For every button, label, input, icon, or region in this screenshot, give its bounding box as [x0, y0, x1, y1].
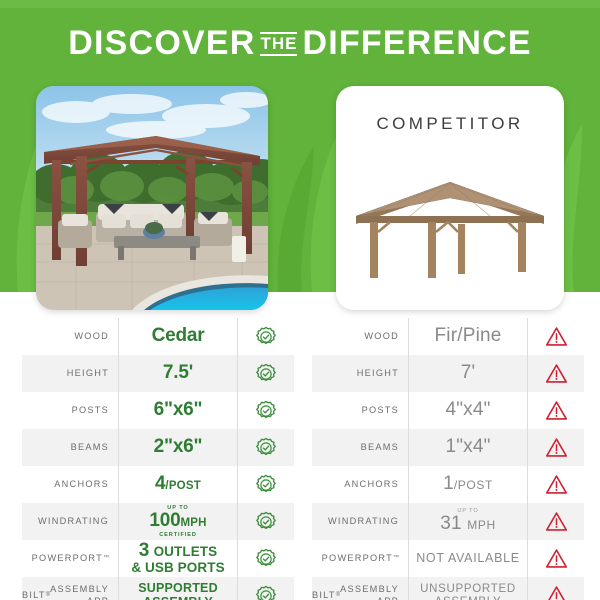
check-seal-icon — [255, 548, 277, 570]
warning-triangle-icon — [545, 437, 568, 458]
row-label: HEIGHT — [22, 355, 118, 392]
row-label: POSTS — [312, 392, 408, 429]
row-label: BEAMS — [22, 429, 118, 466]
row-value: NOT AVAILABLE — [408, 540, 528, 577]
status-icon-cell — [238, 540, 294, 577]
table-row: POWERPORT™ NOT AVAILABLE — [312, 540, 584, 577]
value-line2: & USB PORTS — [131, 561, 224, 576]
value-text: 1"x4" — [445, 437, 490, 458]
row-label-line1: BILT — [22, 590, 46, 600]
table-row: BILT®ASSEMBLY APP SUPPORTED ASSEMBLY — [22, 577, 294, 600]
value-unit: /POST — [454, 478, 493, 492]
hero-top-band — [0, 0, 600, 8]
check-seal-icon — [255, 437, 277, 459]
comparison-table-competitor: WOOD Fir/Pine HEIGHT 7' — [312, 318, 584, 600]
row-label: WINDRATING — [22, 503, 118, 540]
row-label: BILT®ASSEMBLY APP — [312, 577, 408, 600]
value-main: 31 MPH — [440, 514, 496, 535]
trademark-mark: ™ — [103, 555, 109, 563]
row-value: 4"x4" — [408, 392, 528, 429]
warning-triangle-icon — [545, 474, 568, 495]
table-row: HEIGHT 7.5' — [22, 355, 294, 392]
row-value: Cedar — [118, 318, 238, 355]
row-label: POWERPORT™ — [312, 540, 408, 577]
row-label-line2: RATING — [67, 516, 109, 528]
row-label: HEIGHT — [312, 355, 408, 392]
value-text: 7.5' — [163, 363, 193, 384]
status-icon-cell — [238, 577, 294, 600]
row-value: UP TO 100MPH CERTIFIED — [118, 503, 238, 540]
row-value: 6"x6" — [118, 392, 238, 429]
check-seal-icon — [255, 363, 277, 385]
value-text: Cedar — [152, 326, 205, 347]
row-label-line2: ASSEMBLY APP — [340, 584, 399, 600]
value-number: 100 — [149, 510, 180, 531]
table-row: WOOD Fir/Pine — [312, 318, 584, 355]
status-icon-cell — [528, 429, 584, 466]
value-line2: ASSEMBLY — [143, 596, 213, 600]
row-label: WOOD — [22, 318, 118, 355]
status-icon-cell — [528, 577, 584, 600]
value-text: NOT AVAILABLE — [416, 552, 520, 566]
row-value: 1"x4" — [408, 429, 528, 466]
page-title: DISCOVERTHEDIFFERENCE — [0, 26, 600, 61]
comparison-table-ours: WOOD Cedar HEIGHT 7.5' — [22, 318, 294, 600]
table-row: HEIGHT 7' — [312, 355, 584, 392]
competitor-pavilion-illustration — [350, 164, 550, 282]
table-row: BEAMS 2"x6" — [22, 429, 294, 466]
row-label-text: POWERPORT — [32, 553, 103, 565]
value-unit: MPH — [467, 518, 495, 532]
row-label-line1: BILT — [312, 590, 336, 600]
check-seal-icon — [255, 400, 277, 422]
status-icon-cell — [528, 355, 584, 392]
value-text: 7' — [461, 363, 476, 384]
status-icon-cell — [238, 503, 294, 540]
value-text: 6"x6" — [154, 400, 203, 421]
competitor-card[interactable]: COMPETITOR — [336, 86, 564, 310]
row-label: BEAMS — [312, 429, 408, 466]
row-label: WINDRATING — [312, 503, 408, 540]
value-number: 3 — [139, 540, 149, 561]
value-below-note: CERTIFIED — [159, 532, 197, 538]
value-text: 4"x4" — [445, 400, 490, 421]
status-icon-cell — [238, 429, 294, 466]
title-word-discover: DISCOVER — [68, 24, 255, 62]
value-line2: ASSEMBLY — [435, 596, 502, 600]
table-row: BEAMS 1"x4" — [312, 429, 584, 466]
value-line1: SUPPORTED — [138, 582, 218, 596]
value-line1: 3 OUTLETS — [139, 541, 218, 562]
row-label: BILT®ASSEMBLY APP — [22, 577, 118, 600]
table-row: POSTS 6"x6" — [22, 392, 294, 429]
row-label-line1: WIND — [38, 516, 68, 528]
status-icon-cell — [528, 540, 584, 577]
row-label-line1: WIND — [328, 516, 358, 528]
value-text: OUTLETS — [154, 544, 218, 559]
product-photo-card[interactable] — [36, 86, 268, 310]
status-icon-cell — [238, 318, 294, 355]
title-word-the: THE — [260, 32, 297, 56]
row-value: 3 OUTLETS & USB PORTS — [118, 540, 238, 577]
trademark-mark: ™ — [393, 555, 399, 563]
table-row: POWERPORT™ 3 OUTLETS & USB PORTS — [22, 540, 294, 577]
row-label: POSTS — [22, 392, 118, 429]
status-icon-cell — [528, 392, 584, 429]
status-icon-cell — [528, 318, 584, 355]
value-text: 1/POST — [443, 474, 493, 495]
table-row: ANCHORS 4/POST — [22, 466, 294, 503]
check-seal-icon — [255, 326, 277, 348]
row-value: UP TO 31 MPH — [408, 503, 528, 540]
value-text: Fir/Pine — [434, 326, 501, 347]
row-label-text: POWERPORT — [322, 553, 393, 565]
warning-triangle-icon — [545, 400, 568, 421]
row-value: 7.5' — [118, 355, 238, 392]
value-unit: /POST — [165, 480, 201, 492]
warning-triangle-icon — [545, 326, 568, 347]
warning-triangle-icon — [545, 548, 568, 569]
check-seal-icon — [255, 474, 277, 496]
row-label: WOOD — [312, 318, 408, 355]
value-number: 1 — [443, 473, 454, 494]
cedar-pergola-photo — [36, 86, 268, 310]
table-row: POSTS 4"x4" — [312, 392, 584, 429]
row-value: 7' — [408, 355, 528, 392]
status-icon-cell — [238, 466, 294, 503]
title-word-difference: DIFFERENCE — [302, 24, 531, 62]
row-label: ANCHORS — [312, 466, 408, 503]
value-text: 4/POST — [155, 474, 201, 495]
status-icon-cell — [528, 466, 584, 503]
infographic-page: DISCOVERTHEDIFFERENCE — [0, 0, 600, 600]
row-label: POWERPORT™ — [22, 540, 118, 577]
table-row: BILT®ASSEMBLY APP UNSUPPORTED ASSEMBLY — [312, 577, 584, 600]
table-row: WINDRATING UP TO 31 MPH — [312, 503, 584, 540]
warning-triangle-icon — [545, 511, 568, 532]
table-row: WOOD Cedar — [22, 318, 294, 355]
value-line1: UNSUPPORTED — [420, 583, 516, 595]
row-value: 4/POST — [118, 466, 238, 503]
value-number: 31 — [440, 513, 462, 534]
warning-triangle-icon — [545, 363, 568, 384]
value-main: 100MPH — [149, 511, 206, 532]
check-seal-icon — [255, 511, 277, 533]
row-label-line2: RATING — [357, 516, 399, 528]
competitor-title: COMPETITOR — [336, 114, 564, 134]
row-value: 1/POST — [408, 466, 528, 503]
warning-triangle-icon — [545, 585, 568, 600]
table-row: ANCHORS 1/POST — [312, 466, 584, 503]
row-label-line2: ASSEMBLY APP — [50, 584, 109, 600]
row-value: 2"x6" — [118, 429, 238, 466]
row-value: Fir/Pine — [408, 318, 528, 355]
table-row: WINDRATING UP TO 100MPH CERTIFIED — [22, 503, 294, 540]
check-seal-icon — [255, 585, 277, 600]
row-label: ANCHORS — [22, 466, 118, 503]
status-icon-cell — [238, 355, 294, 392]
value-number: 4 — [155, 473, 165, 494]
row-value: SUPPORTED ASSEMBLY — [118, 577, 238, 600]
row-value: UNSUPPORTED ASSEMBLY — [408, 577, 528, 600]
status-icon-cell — [528, 503, 584, 540]
value-unit: MPH — [180, 517, 206, 529]
value-text: 2"x6" — [154, 437, 203, 458]
status-icon-cell — [238, 392, 294, 429]
